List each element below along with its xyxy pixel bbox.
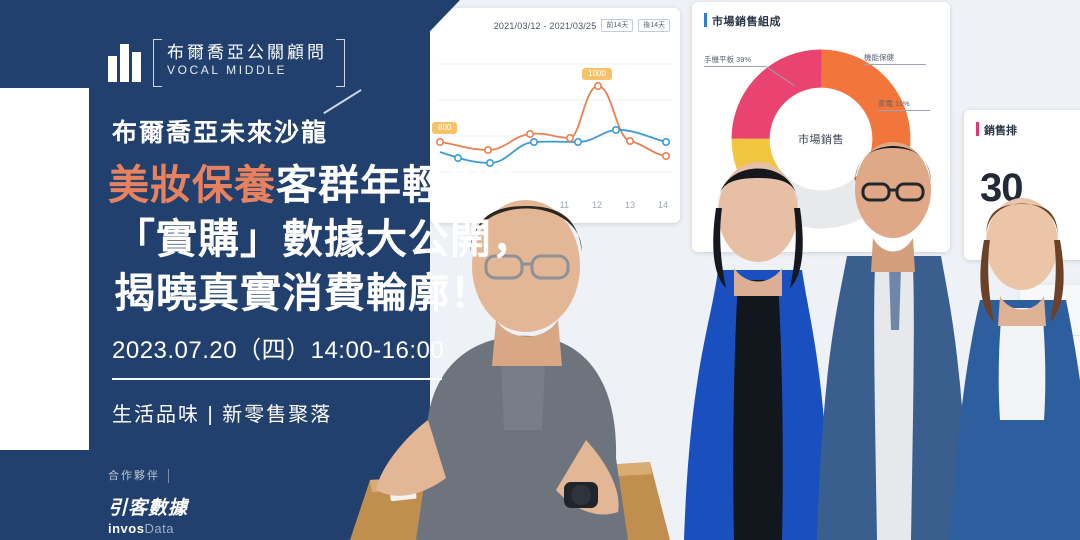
page-title: 美妝保養客群年輕化？ 「實購」數據大公開， 揭曉真實消費輪廓！ <box>108 158 548 320</box>
brand-logo-text: 布爾喬亞公關顧問 VOCAL MIDDLE <box>153 42 353 79</box>
bracket-left-icon <box>153 39 162 87</box>
event-tagline: 生活品味 | 新零售聚落 <box>112 398 332 427</box>
bracket-right-icon <box>336 39 345 87</box>
logo-swoosh-icon <box>323 89 361 114</box>
partner-name-en: invosData <box>108 521 188 536</box>
headline-line-1: 美妝保養客群年輕化？ <box>108 158 548 212</box>
brand-name-en: VOCAL MIDDLE <box>167 63 327 79</box>
partner-name-en-bold: invos <box>108 521 144 536</box>
brand-logo: 布爾喬亞公關顧問 VOCAL MIDDLE <box>108 42 353 82</box>
headline-line-3: 揭曉真實消費輪廓！ <box>108 266 548 320</box>
partner-label: 合作夥伴 <box>108 469 169 483</box>
event-series-title: 布爾喬亞未來沙龍 <box>112 113 328 149</box>
divider <box>112 378 442 380</box>
event-datetime: 2023.07.20（四）14:00-16:00 <box>112 330 444 365</box>
headline-rest: 客群年輕化？ <box>276 162 528 208</box>
partner-lockup: 合作夥伴 引客數據 invosData <box>108 466 188 536</box>
headline-line-2: 「實購」數據大公開， <box>108 212 548 266</box>
brand-name-cn: 布爾喬亞公關顧問 <box>167 42 327 63</box>
banner-content: 布爾喬亞公關顧問 VOCAL MIDDLE 布爾喬亞未來沙龍 美妝保養客群年輕化… <box>0 0 1080 540</box>
partner-name-cn: 引客數據 <box>108 493 188 520</box>
promo-banner: 2021/03/12 - 2021/03/25 前14天 後14天 <box>0 0 1080 540</box>
partner-name-en-light: Data <box>144 521 173 536</box>
bar-chart-logo-icon <box>108 42 141 82</box>
headline-highlight: 美妝保養 <box>108 162 276 208</box>
